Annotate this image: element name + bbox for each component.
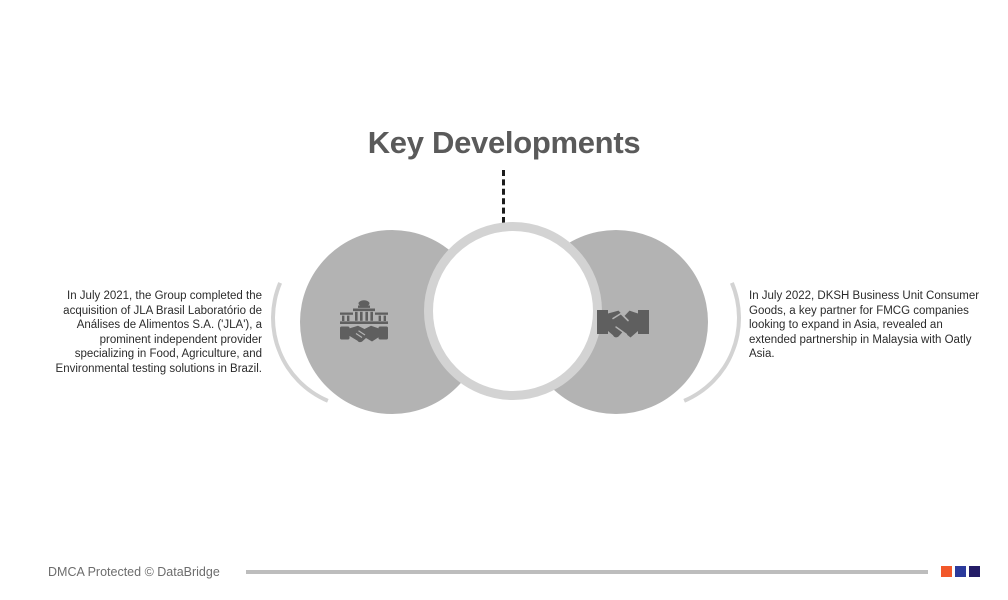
venn-center-ring bbox=[424, 222, 602, 400]
development-text-right: In July 2022, DKSH Business Unit Consume… bbox=[749, 289, 989, 362]
footer-square-group bbox=[941, 566, 981, 577]
blue-square bbox=[955, 566, 966, 577]
handshake-partnership-icon bbox=[595, 298, 651, 346]
dashed-connector-line bbox=[502, 170, 505, 223]
footer-credit: DMCA Protected © DataBridge bbox=[48, 565, 220, 579]
navy-square bbox=[969, 566, 980, 577]
orange-square bbox=[941, 566, 952, 577]
slide-canvas: Key Developments bbox=[0, 0, 1008, 600]
page-title: Key Developments bbox=[0, 124, 1008, 162]
venn-diagram bbox=[275, 222, 733, 418]
footer-divider bbox=[246, 570, 928, 574]
government-building-handshake-icon bbox=[336, 298, 392, 346]
development-text-left: In July 2021, the Group completed the ac… bbox=[42, 289, 262, 377]
